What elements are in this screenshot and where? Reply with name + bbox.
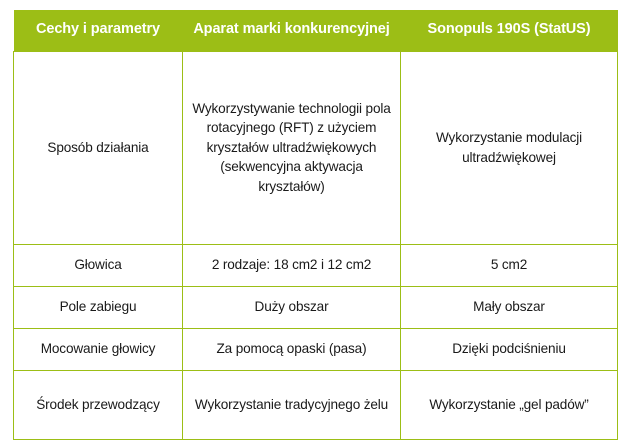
cell-feature-name: Pole zabiegu <box>14 286 183 328</box>
cell-sonopuls-value: Mały obszar <box>401 286 618 328</box>
cell-feature-name: Głowica <box>14 244 183 286</box>
column-header-features: Cechy i parametry <box>14 10 183 51</box>
cell-competitor-value: Wykorzystanie tradycyjnego żelu <box>183 370 401 439</box>
comparison-table: Cechy i parametry Aparat marki konkurenc… <box>13 10 618 440</box>
cell-sonopuls-value: Wykorzystanie „gel padów” <box>401 370 618 439</box>
cell-feature-name: Środek przewodzący <box>14 370 183 439</box>
column-header-sonopuls: Sonopuls 190S (StatUS) <box>401 10 618 51</box>
cell-competitor-value: Za pomocą opaski (pasa) <box>183 328 401 370</box>
table-body: Sposób działania Wykorzystywanie technol… <box>14 51 618 439</box>
table-header-row: Cechy i parametry Aparat marki konkurenc… <box>14 10 618 51</box>
cell-feature-name: Sposób działania <box>14 51 183 244</box>
table-row: Mocowanie głowicy Za pomocą opaski (pasa… <box>14 328 618 370</box>
comparison-table-container: Cechy i parametry Aparat marki konkurenc… <box>13 10 617 403</box>
table-row: Sposób działania Wykorzystywanie technol… <box>14 51 618 244</box>
cell-feature-name: Mocowanie głowicy <box>14 328 183 370</box>
cell-sonopuls-value: Dzięki podciśnieniu <box>401 328 618 370</box>
table-row: Środek przewodzący Wykorzystanie tradycy… <box>14 370 618 439</box>
cell-sonopuls-value: Wykorzystanie modulacji ultradźwiękowej <box>401 51 618 244</box>
table-row: Głowica 2 rodzaje: 18 cm2 i 12 cm2 5 cm2 <box>14 244 618 286</box>
cell-competitor-value: 2 rodzaje: 18 cm2 i 12 cm2 <box>183 244 401 286</box>
cell-sonopuls-value: 5 cm2 <box>401 244 618 286</box>
cell-competitor-value: Wykorzystywanie technologii pola rotacyj… <box>183 51 401 244</box>
table-header: Cechy i parametry Aparat marki konkurenc… <box>14 10 618 51</box>
table-row: Pole zabiegu Duży obszar Mały obszar <box>14 286 618 328</box>
cell-competitor-value: Duży obszar <box>183 286 401 328</box>
column-header-competitor: Aparat marki konkurencyjnej <box>183 10 401 51</box>
